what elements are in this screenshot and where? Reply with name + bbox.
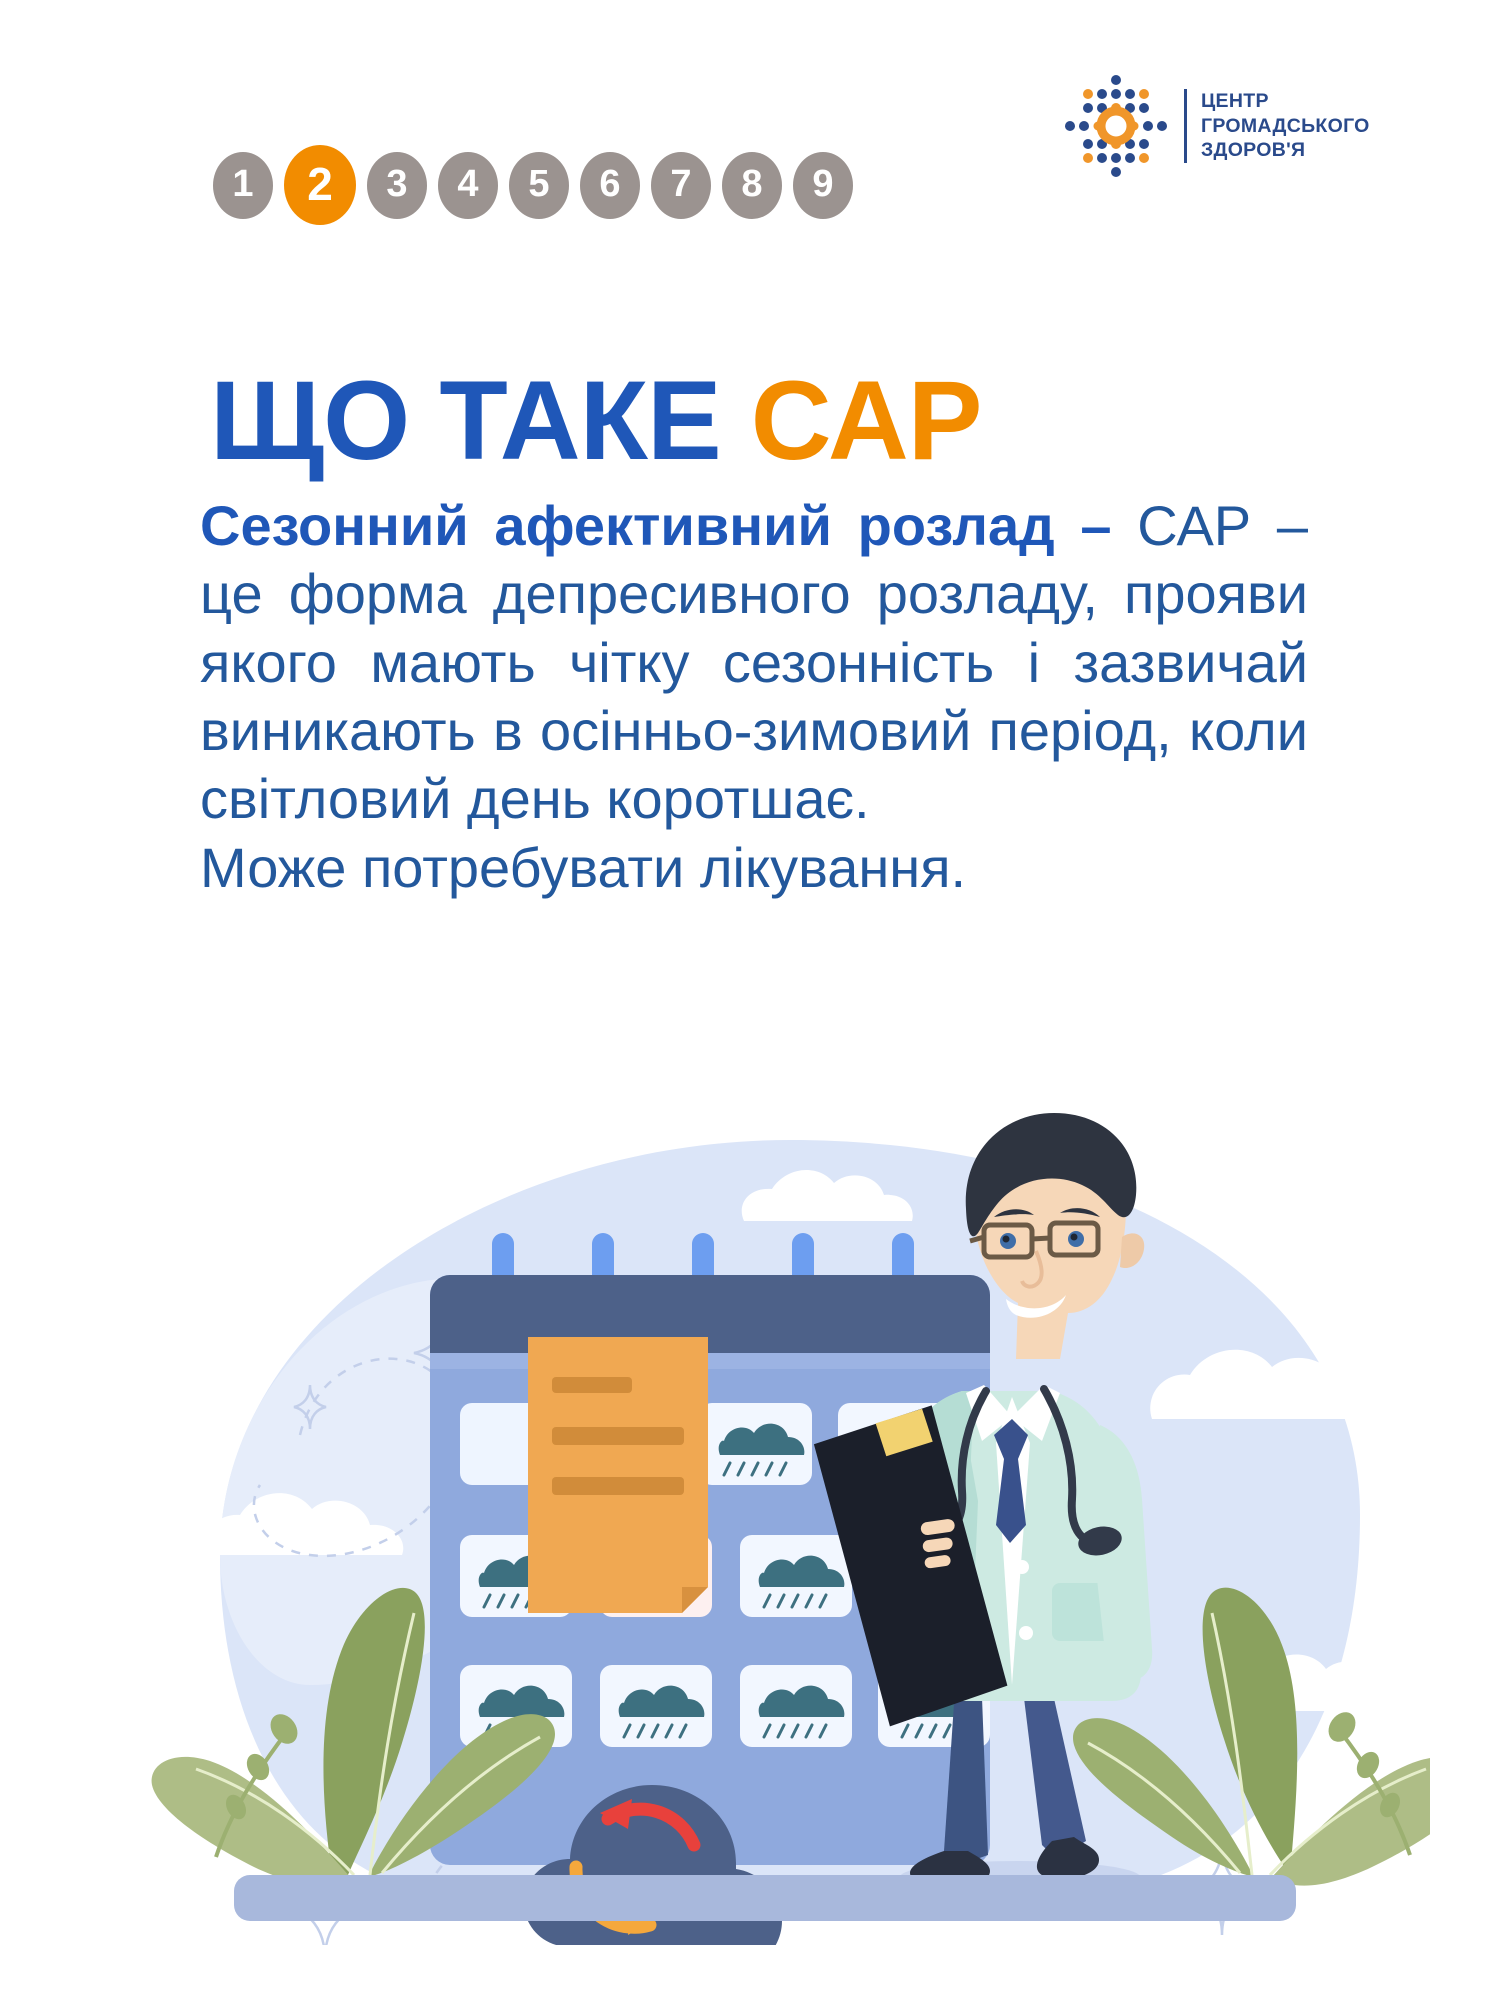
page-title: ЩО ТАКЕ САР <box>210 365 981 477</box>
body-paragraph: Сезонний афективний розлад – САР – це фо… <box>200 492 1308 834</box>
illustration-doctor-with-rainy-calendar <box>100 1085 1430 1945</box>
pagination-dot-8[interactable]: 8 <box>722 152 782 219</box>
cgz-dot-mandala-logo-icon <box>1062 72 1170 180</box>
pagination-dot-7[interactable]: 7 <box>651 152 711 219</box>
logo-divider <box>1184 89 1187 163</box>
calendar-cell <box>700 1403 812 1485</box>
calendar-cell <box>740 1535 852 1617</box>
slide-pagination[interactable]: 1 2 3 4 5 6 7 8 9 <box>213 145 853 225</box>
pagination-dot-6[interactable]: 6 <box>580 152 640 219</box>
calendar-header <box>430 1275 990 1353</box>
pagination-dot-9[interactable]: 9 <box>793 152 853 219</box>
ground-bar <box>234 1875 1296 1921</box>
pagination-dot-1[interactable]: 1 <box>213 152 273 219</box>
body-text: Сезонний афективний розлад – САР – це фо… <box>200 492 1308 902</box>
body-last-line: Може потребувати лікування. <box>200 834 1308 902</box>
doctor-coat-button <box>1015 1560 1029 1574</box>
calendar-cell <box>600 1665 712 1747</box>
pagination-dot-4[interactable]: 4 <box>438 152 498 219</box>
pagination-dot-5[interactable]: 5 <box>509 152 569 219</box>
pagination-dot-3[interactable]: 3 <box>367 152 427 219</box>
infographic-page: ЦЕНТР ГРОМАДСЬКОГО ЗДОРОВ'Я 1 2 3 4 5 6 … <box>0 0 1500 2000</box>
brand-logo: ЦЕНТР ГРОМАДСЬКОГО ЗДОРОВ'Я <box>1062 72 1370 180</box>
page-title-main: ЩО ТАКЕ <box>210 358 751 483</box>
page-title-accent: САР <box>751 358 982 483</box>
calendar-cell <box>740 1665 852 1747</box>
pagination-dot-2[interactable]: 2 <box>284 145 356 225</box>
body-lead: Сезонний афективний розлад – <box>200 494 1137 557</box>
sticky-note-icon <box>528 1337 708 1613</box>
brand-name: ЦЕНТР ГРОМАДСЬКОГО ЗДОРОВ'Я <box>1201 89 1370 163</box>
doctor-fingers <box>920 1518 955 1569</box>
doctor-coat-button <box>1019 1626 1033 1640</box>
